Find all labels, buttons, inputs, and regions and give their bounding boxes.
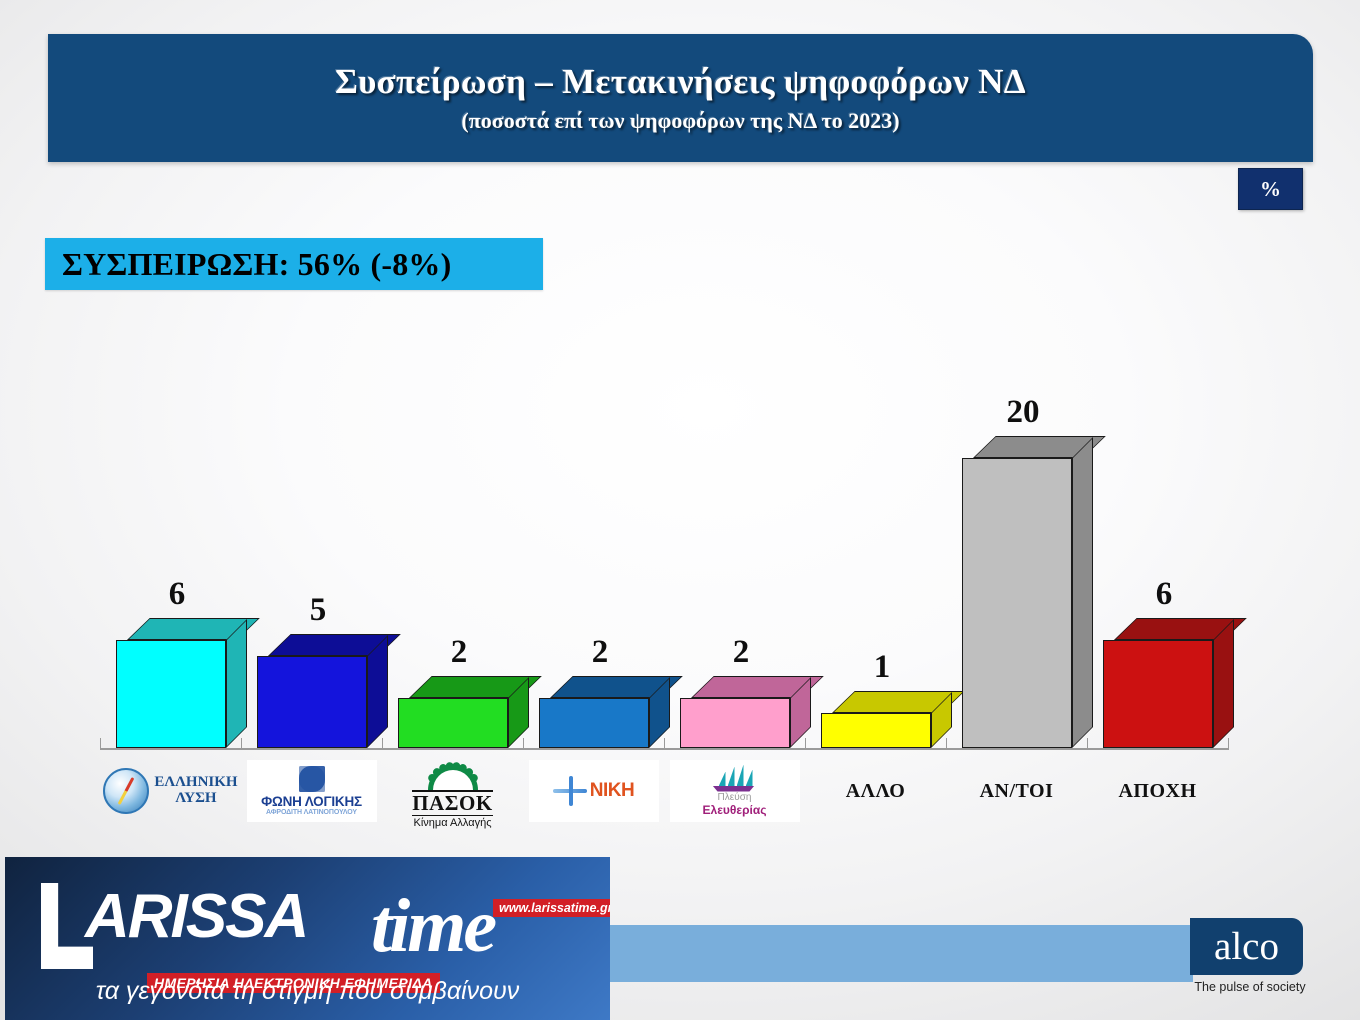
bar-3d: 6 (116, 618, 226, 726)
bar-chart: 652221206 ΕΛΛΗΝΙΚΗΛΥΣΗ ΦΩΝΗ ΛΟΓΙΚΗΣ ΑΦΡΟ… (0, 330, 1360, 860)
bar-value-label: 20 (968, 394, 1078, 431)
bar-front-face (1103, 640, 1213, 748)
bar-column: 5 (241, 330, 382, 748)
logo-plefsi-eleftherias: Πλεύση Ελευθερίας (670, 760, 800, 822)
logo-text: ΕΛΛΗΝΙΚΗΛΥΣΗ (154, 775, 237, 807)
category-label-plefsi: Πλεύση Ελευθερίας (664, 754, 805, 822)
bar-column: 6 (1087, 330, 1228, 748)
category-label-allo: ΑΛΛΟ (805, 754, 946, 803)
larissatime-word-time: time (371, 883, 494, 970)
bar-front-face (398, 698, 508, 748)
diamond-mark-icon (299, 766, 325, 792)
alco-logo[interactable]: alco The pulse of society (1190, 918, 1310, 998)
page-title: Συσπείρωση – Μετακινήσεις ψηφοφόρων ΝΔ (48, 62, 1313, 102)
title-banner: Συσπείρωση – Μετακινήσεις ψηφοφόρων ΝΔ (… (48, 34, 1313, 162)
logo-pasok: ΠΑΣΟΚ Κίνημα Αλλαγής (388, 760, 518, 829)
x-axis-tick (1228, 738, 1229, 750)
bar-front-face (821, 713, 931, 748)
bar-column: 6 (100, 330, 241, 748)
logo-subtext: ΑΦΡΟΔΙΤΗ ΛΑΤΙΝΟΠΟΥΛΟΥ (266, 809, 357, 816)
bar-3d: 5 (257, 634, 367, 726)
retention-highlight-text: ΣΥΣΠΕΙΡΩΣΗ: 56% (-8%) (45, 246, 451, 283)
globe-compass-icon (103, 768, 149, 814)
bar-front-face (680, 698, 790, 748)
logo-text: Πλεύση (718, 792, 752, 803)
category-label-niki: ΝΙΚΗ (523, 754, 664, 822)
page-subtitle: (ποσοστά επί των ψηφοφόρων της ΝΔ το 202… (48, 108, 1313, 134)
retention-highlight-box: ΣΥΣΠΕΙΡΩΣΗ: 56% (-8%) (45, 238, 543, 290)
cross-symbol-icon (553, 776, 587, 806)
larissatime-url[interactable]: www.larissatime.gr (493, 899, 610, 917)
category-text: ΑΛΛΟ (805, 780, 946, 803)
bar-value-label: 6 (1109, 576, 1219, 613)
percent-unit-badge: % (1238, 168, 1303, 210)
bar-front-face (962, 458, 1072, 748)
bar-value-label: 2 (404, 634, 514, 671)
bar-3d: 2 (398, 676, 508, 726)
bar-3d: 2 (680, 676, 790, 726)
bar-column: 2 (382, 330, 523, 748)
logo-text: ΦΩΝΗ ΛΟΓΙΚΗΣ (261, 794, 362, 809)
larissatime-logo[interactable]: ARISSA time www.larissatime.gr ΗΜΕΡΗΣΙΑ … (5, 857, 610, 1020)
category-label-antoi: ΑΝ/ΤΟΙ (946, 754, 1087, 803)
logo-subtext: Κίνημα Αλλαγής (414, 817, 492, 829)
bar-value-label: 5 (263, 592, 373, 629)
category-label-apoxi: ΑΠΟΧΗ (1087, 754, 1228, 803)
bar-3d: 6 (1103, 618, 1213, 726)
alco-tagline: The pulse of society (1190, 980, 1310, 994)
category-label-foni-logikis: ΦΩΝΗ ΛΟΓΙΚΗΣ ΑΦΡΟΔΙΤΗ ΛΑΤΙΝΟΠΟΥΛΟΥ (241, 754, 382, 822)
larissatime-word-main: ARISSA (85, 881, 307, 952)
bar-column: 2 (664, 330, 805, 748)
bar-value-label: 2 (686, 634, 796, 671)
category-label-elliniki-lysi: ΕΛΛΗΝΙΚΗΛΥΣΗ (100, 754, 241, 822)
bar-3d: 2 (539, 676, 649, 726)
sailboat-icon (709, 766, 761, 792)
logo-subtext: Ελευθερίας (703, 803, 767, 817)
logo-foni-logikis: ΦΩΝΗ ΛΟΓΙΚΗΣ ΑΦΡΟΔΙΤΗ ΛΑΤΙΝΟΠΟΥΛΟΥ (247, 760, 377, 822)
logo-elliniki-lysi: ΕΛΛΗΝΙΚΗΛΥΣΗ (106, 760, 236, 822)
alco-word: alco (1214, 927, 1279, 966)
category-label-pasok: ΠΑΣΟΚ Κίνημα Αλλαγής (382, 754, 523, 829)
bar-column: 2 (523, 330, 664, 748)
bar-value-label: 6 (122, 576, 232, 613)
bar-value-label: 1 (827, 649, 937, 686)
bar-column: 20 (946, 330, 1087, 748)
larissatime-tagline: τα γεγονότα τη στιγμή που συμβαίνουν (5, 977, 610, 1006)
sun-icon (417, 760, 489, 790)
bar-front-face (539, 698, 649, 748)
logo-niki: ΝΙΚΗ (529, 760, 659, 822)
logo-text: ΝΙΚΗ (590, 780, 634, 802)
bar-side-face (1213, 619, 1234, 748)
alco-box: alco (1190, 918, 1303, 975)
category-text: ΑΝ/ΤΟΙ (946, 780, 1087, 803)
bar-3d: 1 (821, 691, 931, 726)
bar-front-face (257, 656, 367, 748)
bar-column: 1 (805, 330, 946, 748)
logo-text: ΠΑΣΟΚ (412, 790, 492, 816)
bar-3d: 20 (962, 436, 1072, 726)
bar-front-face (116, 640, 226, 748)
larissatime-wordmark: ARISSA time www.larissatime.gr ΗΜΕΡΗΣΙΑ … (41, 877, 581, 973)
bar-value-label: 2 (545, 634, 655, 671)
category-text: ΑΠΟΧΗ (1087, 780, 1228, 803)
